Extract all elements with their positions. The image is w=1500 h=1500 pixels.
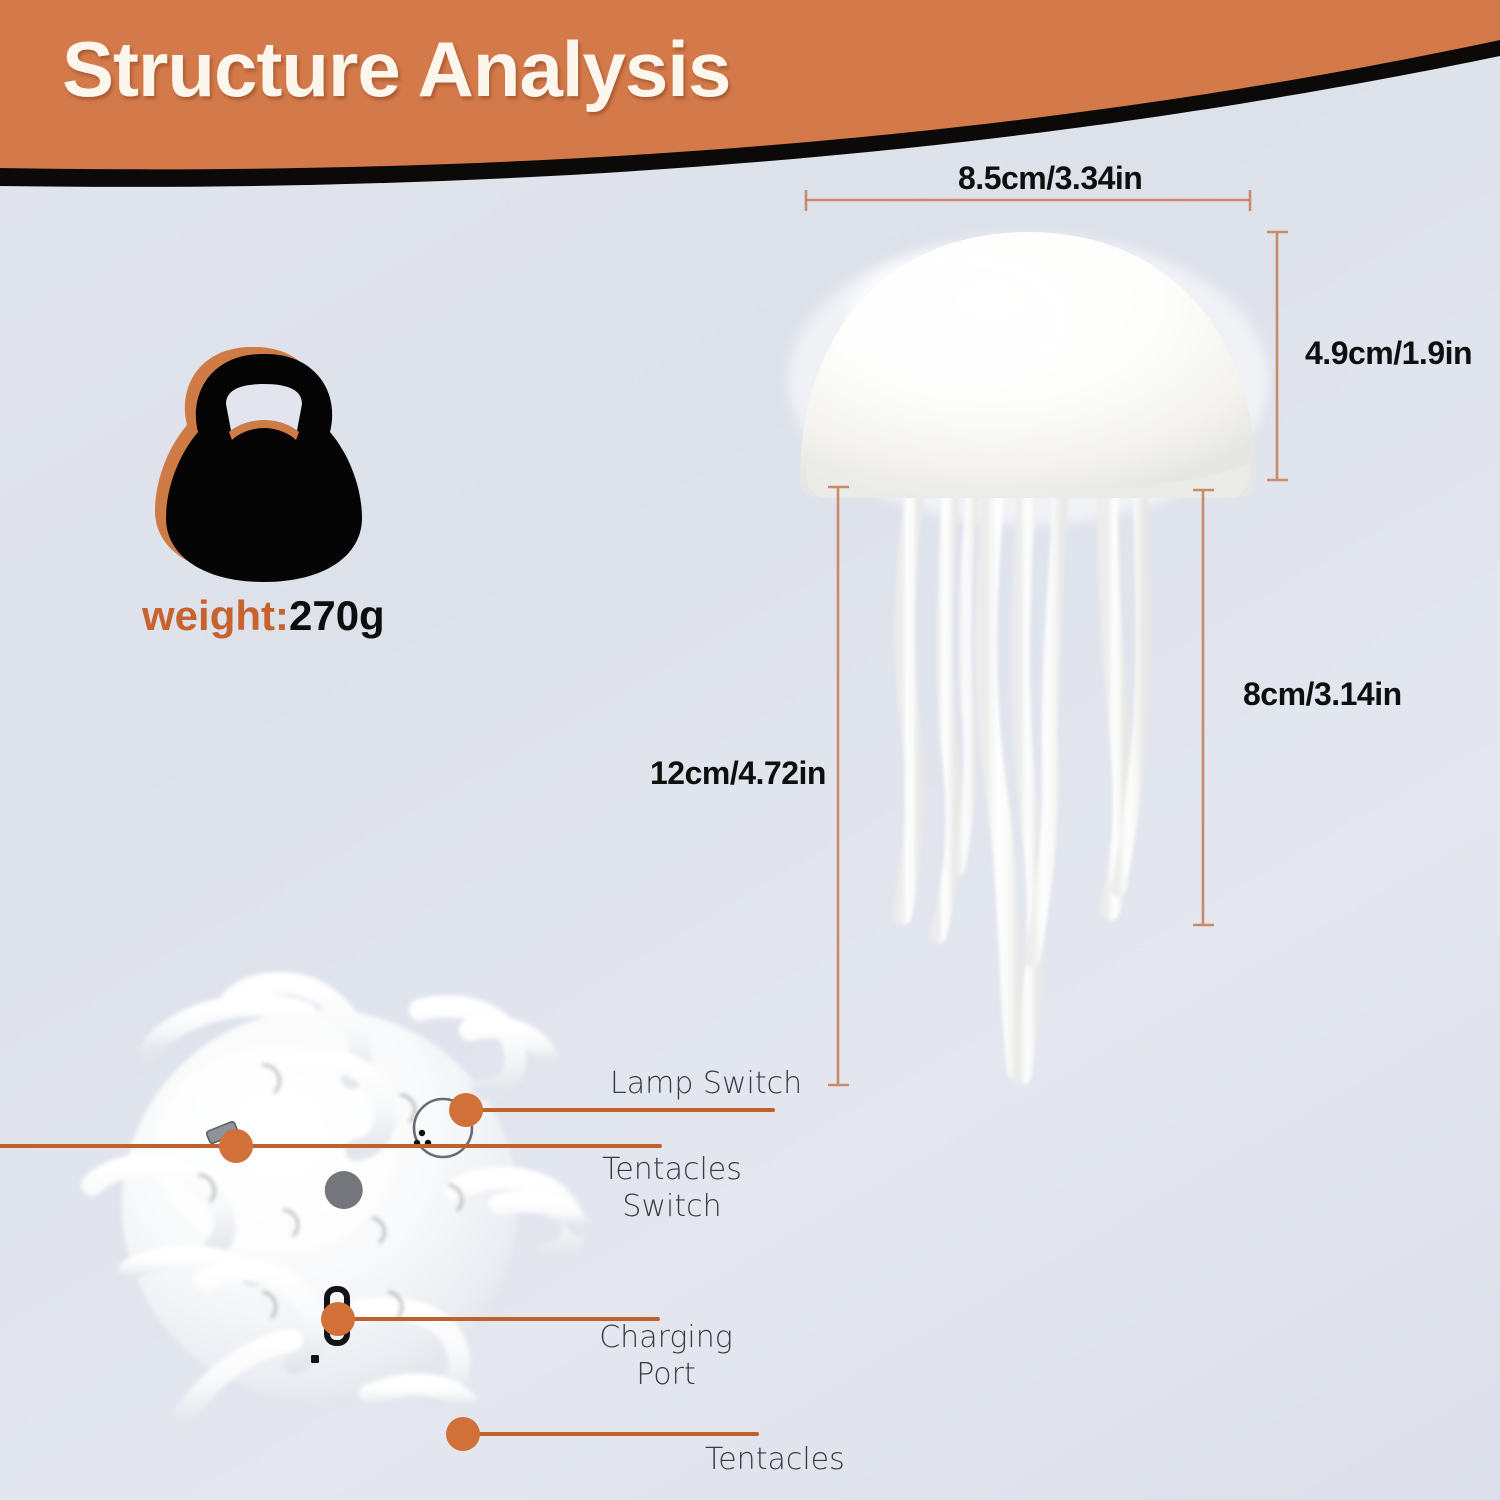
callout-label-lamp-switch: Lamp Switch <box>610 1066 810 1103</box>
lamp-switch-ring <box>414 1099 472 1157</box>
callout-label-tentacles-switch: Tentacles Switch <box>562 1152 782 1225</box>
page-title: Structure Analysis <box>62 24 730 115</box>
dim-label-dome-height: 4.9cm/1.9in <box>1305 335 1472 372</box>
weight-block: weight:270g <box>150 340 480 650</box>
callout-dot-lamp-switch <box>449 1093 483 1127</box>
callout-label-charging-port: Charging Port <box>556 1320 776 1393</box>
dim-label-tentacle-length: 8cm/3.14in <box>1243 676 1402 713</box>
header-banner: Structure Analysis <box>0 0 1500 230</box>
infographic-canvas: Structure Analysis weight:270g <box>0 0 1500 1500</box>
kettlebell-icon <box>150 340 480 590</box>
weight-value: 270g <box>289 592 385 639</box>
port-marker-dot <box>311 1355 319 1363</box>
weight-text: weight:270g <box>142 592 385 640</box>
callout-dot-charging-port <box>321 1302 355 1336</box>
dim-label-width: 8.5cm/3.34in <box>958 160 1142 197</box>
callout-dot-tentacles-switch <box>219 1129 253 1163</box>
weight-label: weight: <box>142 592 289 639</box>
indicator-dots <box>414 1130 431 1146</box>
charging-port-icon <box>327 1289 347 1343</box>
callout-label-tentacles: Tentacles <box>705 1442 925 1479</box>
center-dot <box>325 1171 363 1209</box>
tentacles-switch-icon <box>206 1121 239 1144</box>
dim-label-total-height: 12cm/4.72in <box>650 755 826 792</box>
callout-dot-tentacles <box>446 1417 480 1451</box>
